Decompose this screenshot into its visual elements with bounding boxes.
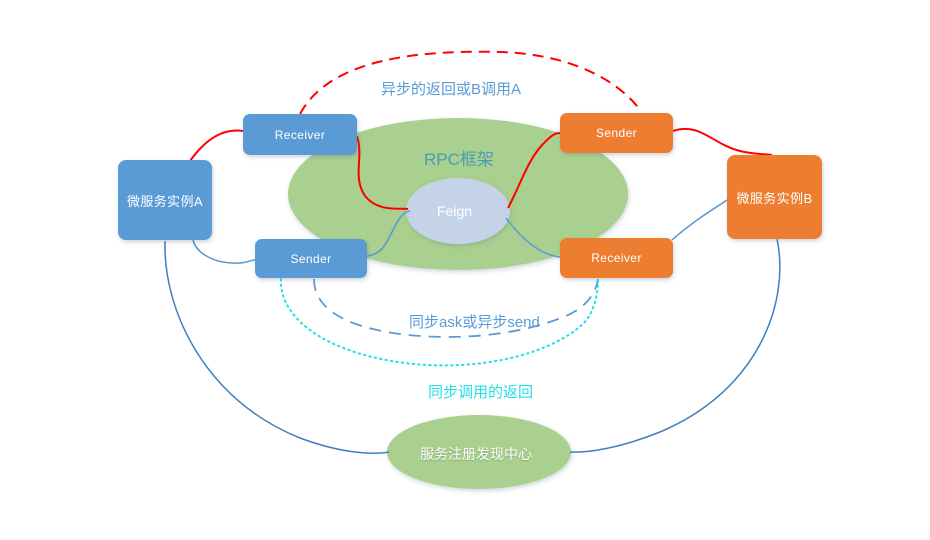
node-left-sender[interactable]: Sender [255,239,367,278]
node-left-sender-label: Sender [290,252,331,266]
rpc-framework-label: RPC框架 [424,145,494,170]
edge-feign-to-right-receiver [506,218,560,257]
edge-service-a-to-left-receiver [190,131,243,161]
node-right-sender[interactable]: Sender [560,113,673,153]
node-service-b[interactable]: 微服务实例B [727,155,822,239]
node-left-receiver-label: Receiver [275,128,326,142]
registry-label: 服务注册发现中心 [420,444,532,464]
diagram-canvas: RPC框架 Feign 服务注册发现中心 微服务实例A Receiver Sen… [0,0,930,540]
node-left-receiver[interactable]: Receiver [243,114,357,155]
edge-label-sync-return: 同步调用的返回 [428,381,533,402]
edge-service-a-to-left-sender [193,240,255,263]
edge-right-receiver-to-service-b [672,200,727,240]
edge-right-sender-to-service-b [673,129,772,155]
edge-label-async-return: 异步的返回或B调用A [381,78,521,99]
node-right-sender-label: Sender [596,126,637,140]
node-service-b-label: 微服务实例B [736,188,812,207]
edge-label-sync-ask: 同步ask或异步send [409,311,540,332]
feign-label: Feign [437,203,472,219]
node-right-receiver[interactable]: Receiver [560,238,673,278]
node-service-a-label: 微服务实例A [127,191,203,210]
edge-left-receiver-to-feign [357,136,408,209]
node-right-receiver-label: Receiver [591,251,642,265]
edge-left-sender-to-feign [367,211,410,256]
edge-feign-to-right-sender [508,133,560,208]
node-service-a[interactable]: 微服务实例A [118,160,212,240]
